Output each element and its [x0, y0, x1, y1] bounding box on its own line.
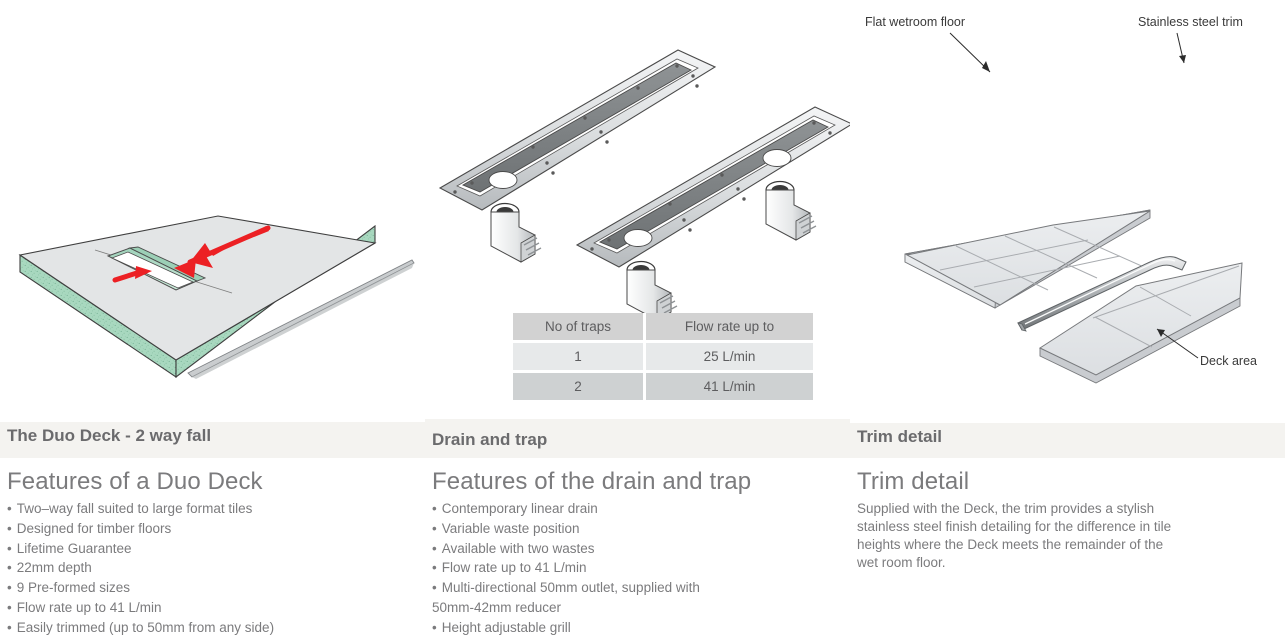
flow-rate-table: No of traps Flow rate up to 1 25 L/min 2… [513, 313, 813, 400]
cell-flow-2: 41 L/min [645, 372, 814, 401]
panel-duo-deck: The Duo Deck - 2 way fall Features of a … [0, 418, 425, 642]
band-title-duo-deck: The Duo Deck - 2 way fall [7, 426, 211, 446]
duo-deck-illustration [0, 0, 425, 418]
list-item: Lifetime Guarantee [7, 540, 415, 557]
column-header-no-of-traps: No of traps [513, 313, 645, 342]
heading-features-duo-deck: Features of a Duo Deck [7, 468, 415, 496]
panel-body-drain-and-trap: Features of the drain and trap Contempor… [432, 468, 840, 638]
feature-list-drain-and-trap: Contemporary linear drain Variable waste… [432, 500, 840, 636]
list-item: Height adjustable grill [432, 619, 840, 636]
list-item: Two–way fall suited to large format tile… [7, 500, 415, 517]
list-item: Flow rate up to 41 L/min [432, 559, 840, 576]
list-item: Variable waste position [432, 520, 840, 537]
table-row: 2 41 L/min [513, 372, 813, 401]
panel-body-trim-detail: Trim detail Supplied with the Deck, the … [857, 468, 1275, 572]
list-item: 22mm depth [7, 559, 415, 576]
panel-drain-and-trap: Drain and trap Features of the drain and… [425, 418, 850, 642]
label-stainless-steel-trim: Stainless steel trim [1138, 15, 1243, 29]
list-item-continuation: 50mm-42mm reducer [432, 599, 840, 616]
cell-flow-1: 25 L/min [645, 342, 814, 372]
feature-list-duo-deck: Two–way fall suited to large format tile… [7, 500, 415, 636]
table-row: 1 25 L/min [513, 342, 813, 372]
illustration-row: Flat wetroom floor Stainless steel trim … [0, 0, 1285, 418]
cell-traps-1: 1 [513, 342, 645, 372]
body-copy-trim-detail: Supplied with the Deck, the trim provide… [857, 500, 1177, 572]
content-panels: The Duo Deck - 2 way fall Features of a … [0, 418, 1285, 642]
list-item: 9 Pre-formed sizes [7, 579, 415, 596]
panel-trim-detail: Trim detail Trim detail Supplied with th… [850, 418, 1285, 642]
list-item: Contemporary linear drain [432, 500, 840, 517]
trim-detail-illustration: Flat wetroom floor Stainless steel trim … [850, 0, 1285, 418]
panel-body-duo-deck: Features of a Duo Deck Two–way fall suit… [7, 468, 415, 638]
list-item: Available with two wastes [432, 540, 840, 557]
product-page: Flat wetroom floor Stainless steel trim … [0, 0, 1285, 642]
band-title-trim-detail: Trim detail [857, 427, 942, 447]
list-item: Flow rate up to 41 L/min [7, 599, 415, 616]
list-item: Designed for timber floors [7, 520, 415, 537]
heading-features-drain-and-trap: Features of the drain and trap [432, 468, 840, 496]
list-item: Multi-directional 50mm outlet, supplied … [432, 579, 840, 596]
heading-trim-detail: Trim detail [857, 468, 1275, 496]
cell-traps-2: 2 [513, 372, 645, 401]
band-title-drain-and-trap: Drain and trap [432, 430, 547, 450]
column-header-flow-rate: Flow rate up to [645, 313, 814, 342]
label-deck-area: Deck area [1200, 354, 1257, 368]
label-flat-wetroom-floor: Flat wetroom floor [865, 15, 965, 29]
list-item: Easily trimmed (up to 50mm from any side… [7, 619, 415, 636]
table-header-row: No of traps Flow rate up to [513, 313, 813, 342]
